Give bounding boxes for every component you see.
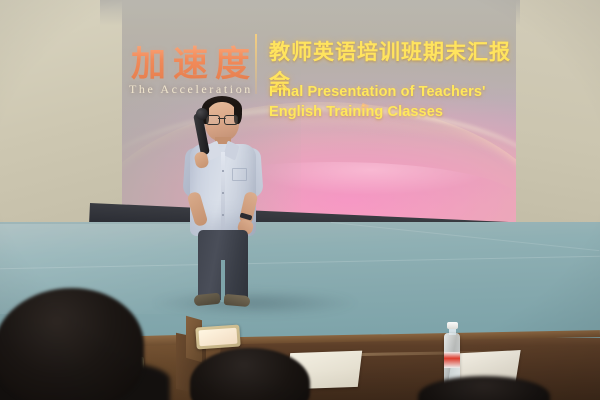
presentation-photo: 加速度 The Acceleration 教师英语培训班期末汇报会 Final … [0, 0, 600, 400]
presenter-shoe-left [193, 293, 220, 307]
slide-title-english: Final Presentation of Teachers' English … [269, 82, 519, 122]
audience-head-left [0, 288, 144, 400]
shirt-pocket [232, 168, 247, 181]
glasses-icon [206, 115, 238, 123]
slide-logo-chinese: 加速度 [131, 36, 257, 87]
bottle-cap [447, 322, 458, 329]
wall-right-panel [516, 0, 600, 240]
bottle-label [444, 352, 460, 368]
slide-text-layer: 加速度 The Acceleration 教师英语培训班期末汇报会 Final … [113, 0, 521, 232]
slide-logo-english: The Acceleration [129, 82, 253, 97]
phone-screen [198, 328, 237, 347]
slide-divider [255, 34, 257, 94]
projection-screen: 加速度 The Acceleration 教师英语培训班期末汇报会 Final … [113, 0, 521, 232]
presenter-shoe-right [224, 294, 251, 307]
presenter [176, 96, 272, 306]
wall-left-panel [0, 0, 122, 232]
wall-top-shadow [100, 0, 520, 26]
